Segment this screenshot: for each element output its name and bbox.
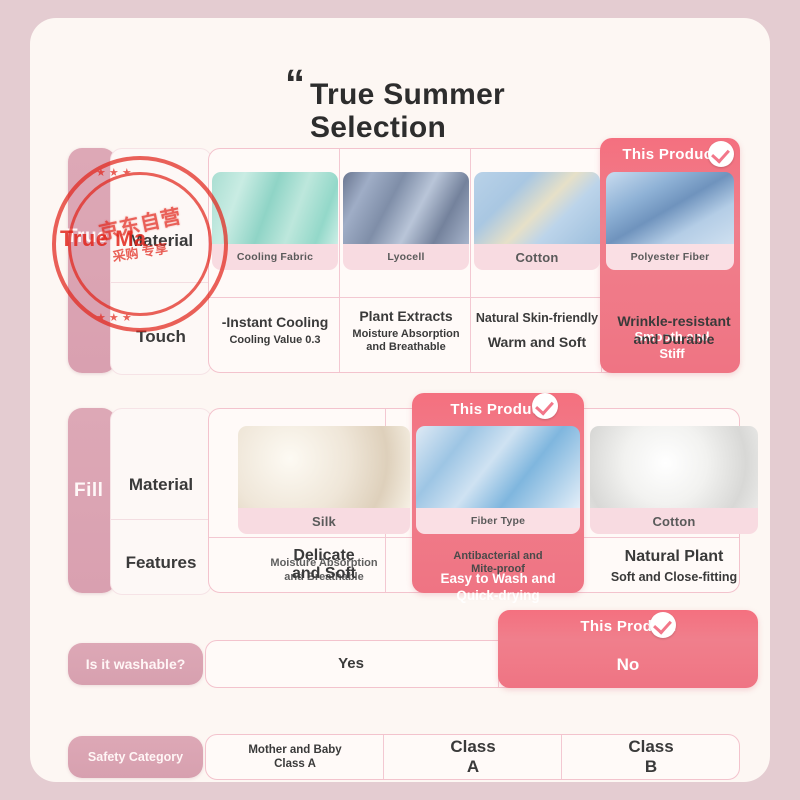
this-product-banner-2: This Product (412, 393, 584, 425)
row-label-column-1: Material Touch (110, 148, 212, 375)
feature-cell-lyocell: Plant Extracts Moisture Absorption and B… (343, 300, 469, 360)
feature-line2: Soft and Close-fitting (611, 568, 737, 586)
feature-cell-fiber: Antibacterial and Mite-proof (416, 546, 580, 576)
row-label-touch: Touch (111, 282, 211, 374)
thumbnail-caption: Lyocell (343, 244, 469, 270)
feature-line1: Antibacterial and (453, 550, 542, 563)
page-card: “ True Summer Selection True Ma Material… (30, 18, 770, 782)
thumbnail-image (416, 426, 580, 508)
thumbnail-image (343, 172, 469, 244)
product-thumbnail-fiber-type: Fiber Type (416, 426, 580, 534)
product-thumbnail-cotton-2: Cotton (590, 426, 758, 534)
safety-row-label: Safety Category (68, 736, 203, 778)
this-product-banner-3: This Product (498, 610, 758, 642)
feature-line2: and Soft (292, 565, 356, 583)
row-label-column-2: Material Features (110, 408, 212, 595)
grid-divider-v (339, 149, 340, 372)
safety-cell-class-a: Class A (384, 734, 562, 780)
page-title-line1: True Summer (310, 78, 505, 111)
thumbnail-caption: Cooling Fabric (212, 244, 338, 270)
cell-value: No (617, 656, 640, 674)
row-label-material: Material (111, 231, 211, 251)
feature-line2: and Durable (634, 330, 715, 348)
product-thumbnail-silk: Silk (238, 426, 410, 534)
feature-line1: Natural Skin-friendly (476, 309, 598, 327)
thumbnail-caption: Silk (238, 508, 410, 534)
thumbnail-image (590, 426, 758, 508)
cell-line1: Mother and Baby (248, 743, 341, 757)
thumbnail-image (474, 172, 600, 244)
feature-line1: Plant Extracts (359, 307, 452, 325)
thumbnail-image (606, 172, 734, 244)
safety-cell-mother-baby: Mother and Baby Class A (207, 734, 383, 780)
feature-line1: Delicate (293, 547, 354, 565)
thumbnail-image (212, 172, 338, 244)
row-label-material-2: Material (111, 475, 211, 495)
check-circle-icon (532, 393, 558, 419)
section-tab-material (68, 148, 116, 373)
thumbnail-caption: Cotton (474, 244, 600, 270)
product-thumbnail-cooling-fabric: Cooling Fabric (212, 172, 338, 270)
feature-line2: Warm and Soft (488, 333, 586, 351)
cell-line1: Class (450, 737, 495, 757)
thumbnail-image (238, 426, 410, 508)
product-thumbnail-polyester: Polyester Fiber (606, 172, 734, 270)
cell-line1: Class (628, 737, 673, 757)
feature-line1: Wrinkle-resistant (617, 312, 730, 330)
cell-line2: Class A (274, 757, 316, 771)
section-tab-fill-label: Fill (74, 480, 103, 502)
washable-cell-no: No (498, 642, 758, 688)
feature-line2: Cooling Value 0.3 (229, 334, 320, 347)
feature-cell-cotton-2: Natural Plant Soft and Close-fitting (590, 546, 758, 588)
quote-mark-icon: “ (285, 66, 302, 102)
check-circle-icon (650, 612, 676, 638)
feature-cell-cotton: Natural Skin-friendly Warm and Soft (471, 300, 603, 360)
washable-row-label: Is it washable? (68, 643, 203, 685)
safety-cell-class-b: Class B (562, 734, 740, 780)
row-label-features: Features (111, 519, 211, 594)
feature-line1: Natural Plant (625, 548, 724, 566)
check-circle-icon (708, 141, 734, 167)
product-thumbnail-cotton: Cotton (474, 172, 600, 270)
feature-cell-polyester: Wrinkle-resistant and Durable (604, 310, 744, 350)
product-thumbnail-lyocell: Lyocell (343, 172, 469, 270)
feature-line2: Moisture Absorption and Breathable (352, 328, 459, 354)
cell-value: Yes (338, 655, 364, 673)
feature-line2: Mite-proof (471, 563, 525, 576)
page-title-line2: Selection (310, 111, 446, 144)
cell-line2: B (645, 757, 657, 777)
cell-line2: A (467, 757, 479, 777)
thumbnail-caption: Polyester Fiber (606, 244, 734, 270)
page-title: True Summer Selection (310, 78, 610, 144)
feature-cell-silk: Delicate and Soft (238, 546, 410, 584)
feature-line1: -Instant Cooling (222, 313, 329, 331)
thumbnail-caption: Fiber Type (416, 508, 580, 534)
thumbnail-caption: Cotton (590, 508, 758, 534)
washable-cell-yes: Yes (205, 640, 497, 688)
feature-cell-cooling-fabric: -Instant Cooling Cooling Value 0.3 (212, 300, 338, 360)
